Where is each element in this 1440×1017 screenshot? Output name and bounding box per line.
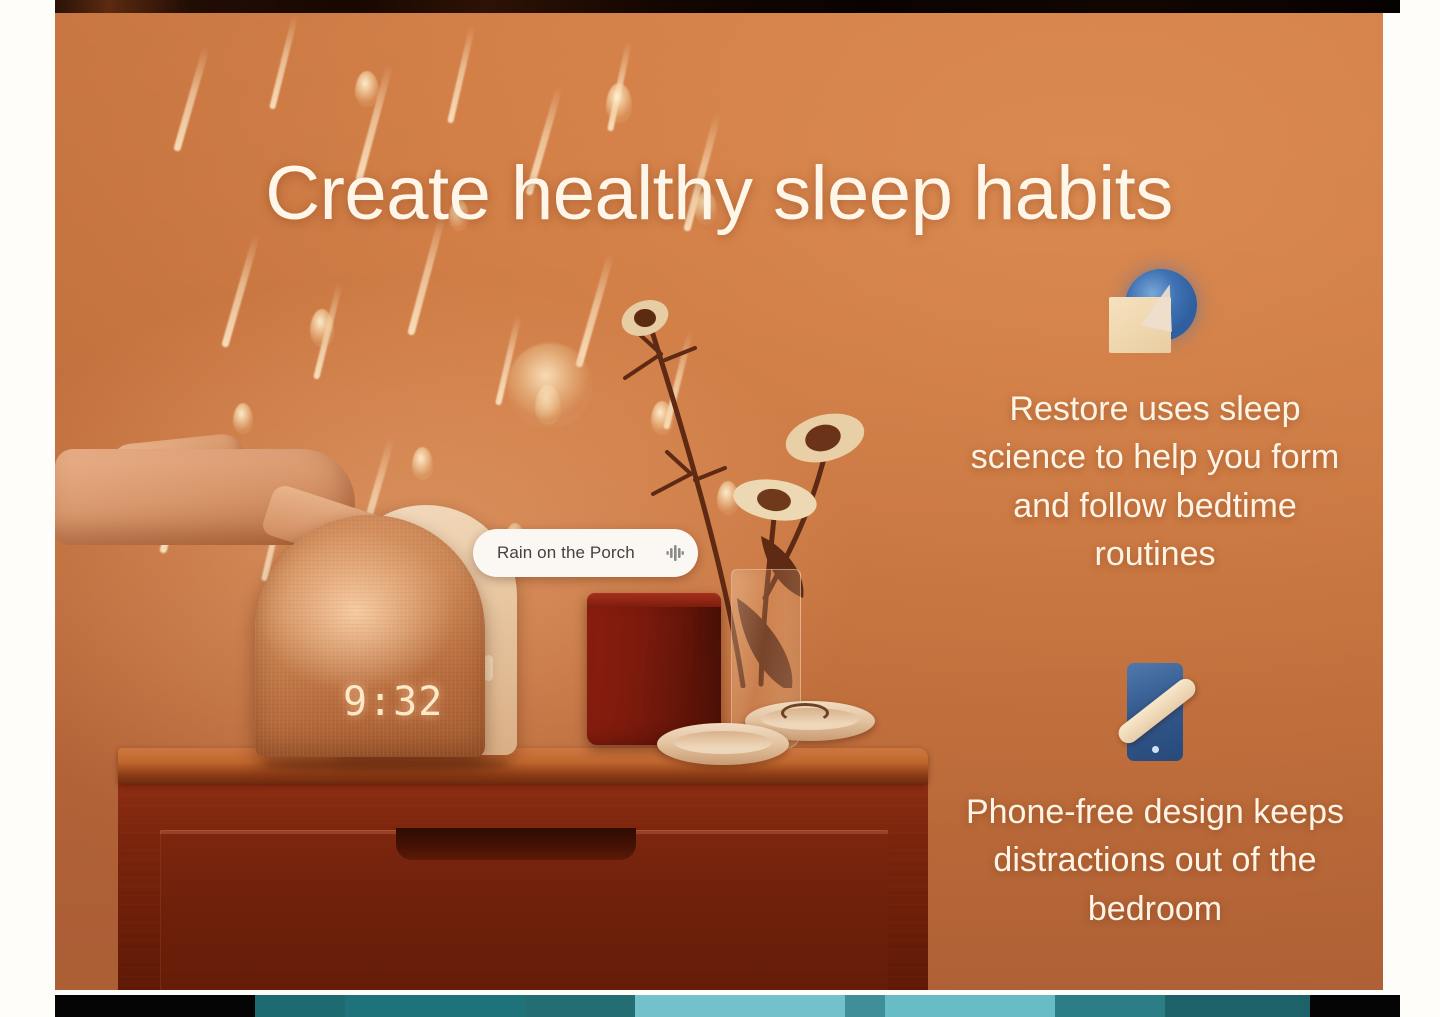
candle-rim bbox=[587, 593, 721, 607]
feature-item-sleep-science: Restore uses sleep science to help you f… bbox=[960, 253, 1350, 578]
nightstand bbox=[118, 748, 928, 990]
feature-item-phone-free: Phone-free design keeps distractions out… bbox=[960, 656, 1350, 933]
device-front-fabric: 9:32 bbox=[255, 515, 485, 757]
sound-chip[interactable]: Rain on the Porch bbox=[473, 529, 698, 577]
sound-wave-icon[interactable] bbox=[652, 540, 698, 566]
nightstand-drawer bbox=[160, 830, 888, 990]
nightstand-body bbox=[118, 778, 928, 990]
video-top-letterbox bbox=[55, 0, 1400, 13]
promo-page: Create healthy sleep habits bbox=[0, 0, 1440, 1017]
sound-chip-label: Rain on the Porch bbox=[473, 543, 652, 563]
drawer-handle bbox=[396, 828, 636, 860]
dish-trinket bbox=[781, 703, 829, 723]
device-clock-display: 9:32 bbox=[343, 679, 443, 725]
device-button[interactable] bbox=[484, 655, 493, 681]
promo-image: Create healthy sleep habits bbox=[55, 13, 1383, 990]
feature-text: Phone-free design keeps distractions out… bbox=[960, 788, 1350, 933]
phone-free-icon bbox=[960, 656, 1350, 768]
feature-list: Restore uses sleep science to help you f… bbox=[960, 253, 1350, 990]
nightstand-top-surface bbox=[118, 748, 928, 784]
device-shadow bbox=[261, 757, 511, 771]
candle-vessel bbox=[587, 593, 721, 745]
feature-text: Restore uses sleep science to help you f… bbox=[960, 385, 1350, 578]
video-bottom-filmstrip[interactable] bbox=[55, 995, 1400, 1017]
sleep-science-icon bbox=[960, 253, 1350, 365]
ceramic-dish-front bbox=[657, 723, 789, 765]
page-title: Create healthy sleep habits bbox=[55, 156, 1383, 232]
